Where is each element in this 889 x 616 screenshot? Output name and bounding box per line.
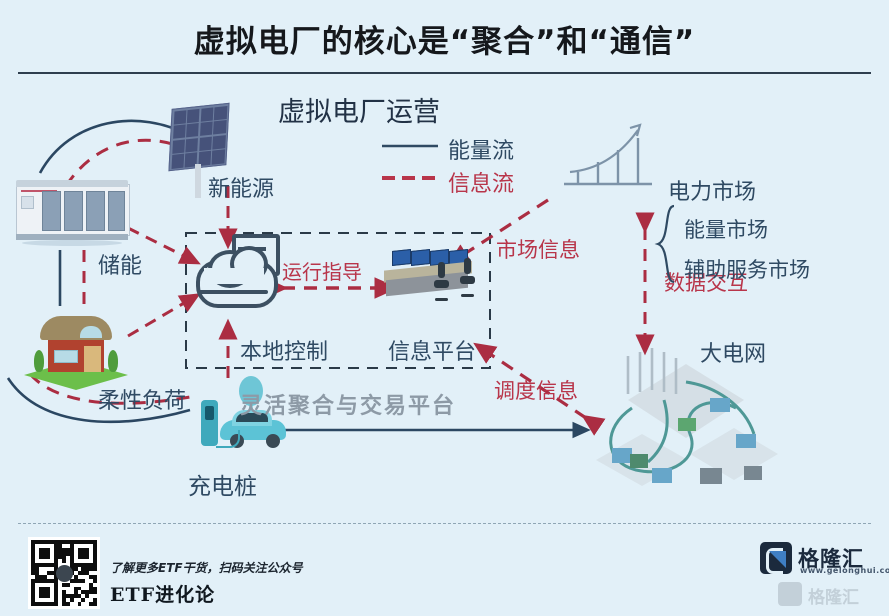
header: 虚拟电厂的核心是“聚合”和“通信” (0, 0, 889, 76)
node-label-big-grid: 大电网 (700, 336, 766, 368)
flow-label-dispatch-information: 调度信息 (494, 375, 578, 405)
footer-subtitle: 了解更多ETF干货，扫码关注公众号 (110, 559, 303, 576)
node-label-flexible-load: 柔性负荷 (98, 383, 186, 415)
cloud-server-local-control-icon (196, 234, 280, 308)
gelonghui-watermark: 格隆汇 (778, 580, 882, 608)
flow-label-market-information: 市场信息 (496, 234, 580, 264)
page-title: 虚拟电厂的核心是“聚合”和“通信” (0, 16, 889, 61)
legend-label-energy-flow: 能量流 (448, 133, 514, 165)
control-room-information-platform-icon (378, 240, 486, 312)
gelonghui-logo-url: www.gelonghui.com (800, 566, 889, 575)
gelonghui-logo: 格隆汇 www.gelonghui.com (760, 542, 872, 576)
watermark-text: 格隆汇 (808, 583, 859, 608)
flow-label-operation-guidance: 运行指导 (282, 256, 362, 285)
footer: 了解更多ETF干货，扫码关注公众号 ETF进化论 (0, 523, 889, 616)
infographic-page: 虚拟电厂的核心是“聚合”和“通信” (0, 0, 889, 616)
node-label-new-energy: 新能源 (208, 171, 274, 203)
node-label-charging-pile: 充电桩 (188, 467, 257, 501)
node-label-power-market: 电力市场 (668, 174, 756, 206)
caption-aggregation-trading-platform: 灵活聚合与交易平台 (240, 388, 456, 420)
power-grid-network-icon (568, 342, 804, 502)
diagram-title: 虚拟电厂运营 (278, 90, 440, 129)
node-label-storage: 储能 (98, 248, 142, 280)
node-label-energy-market: 能量市场 (684, 214, 768, 244)
watermark-mark (778, 582, 802, 606)
node-label-ancillary-service-market: 辅助服务市场 (684, 254, 810, 284)
footer-divider (18, 523, 871, 524)
qr-center-logo (56, 565, 73, 582)
footer-brand: ETF进化论 (110, 580, 215, 607)
market-growth-chart-icon (560, 120, 656, 198)
house-flexible-load-icon (24, 310, 128, 392)
diagram-canvas: 虚拟电厂运营 能量流 信息流 新能源 储能 柔性负荷 充电桩 本地控制 信息平台… (0, 78, 889, 523)
gelonghui-logo-mark (760, 542, 792, 574)
node-label-information-platform: 信息平台 (388, 334, 476, 366)
market-brace (654, 204, 680, 284)
battery-storage-icon (16, 180, 128, 242)
node-label-local-control: 本地控制 (240, 334, 328, 366)
title-divider (18, 72, 871, 74)
legend-label-information-flow: 信息流 (448, 166, 514, 198)
